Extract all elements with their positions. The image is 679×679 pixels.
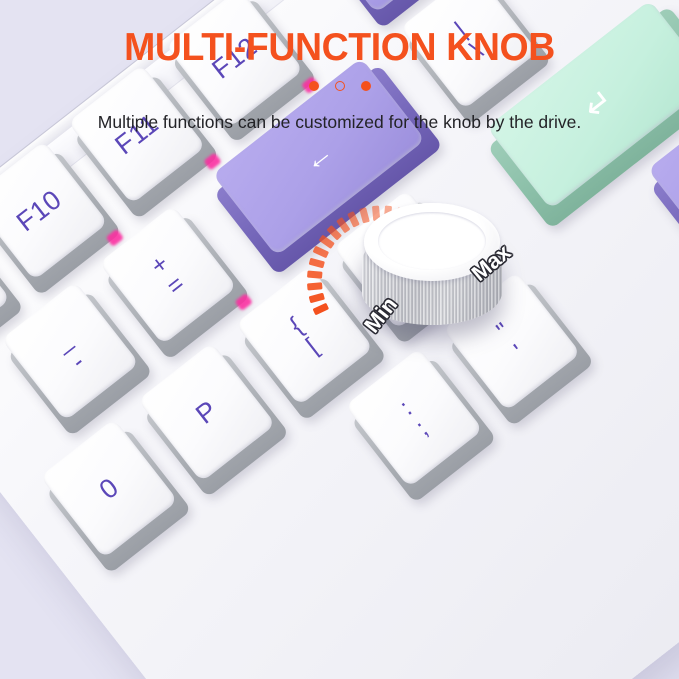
key-minus-legend: _ - [48,326,92,376]
carousel-dot-1[interactable] [309,81,319,91]
key-0-legend: 0 [94,473,124,505]
knob-tick [347,211,360,228]
knob-tick [307,270,323,278]
key-f10-legend: F10 [11,185,66,237]
carousel-indicator[interactable] [0,81,679,91]
knob-assembly [330,185,560,375]
key-equals-legend: + = [146,250,190,301]
carousel-dot-2[interactable] [335,81,345,91]
product-banner: F9F10F11F12PgUpDel+ =_ -←| \0P{ [} ]↵: ;… [0,0,679,679]
key-semicolon-legend: : ; [395,395,433,441]
page-subtitle: Multiple functions can be customized for… [0,91,679,134]
knob-tick [307,282,323,290]
page-title: MULTI-FUNCTION KNOB [14,0,666,70]
carousel-dot-3[interactable] [361,81,371,91]
key-backspace-legend: ← [297,136,340,180]
key-p-legend: P [191,395,223,429]
key-bracket-l-legend: { [ [285,312,324,359]
header: MULTI-FUNCTION KNOB Multiple functions c… [0,0,679,134]
knob-face [378,212,486,270]
